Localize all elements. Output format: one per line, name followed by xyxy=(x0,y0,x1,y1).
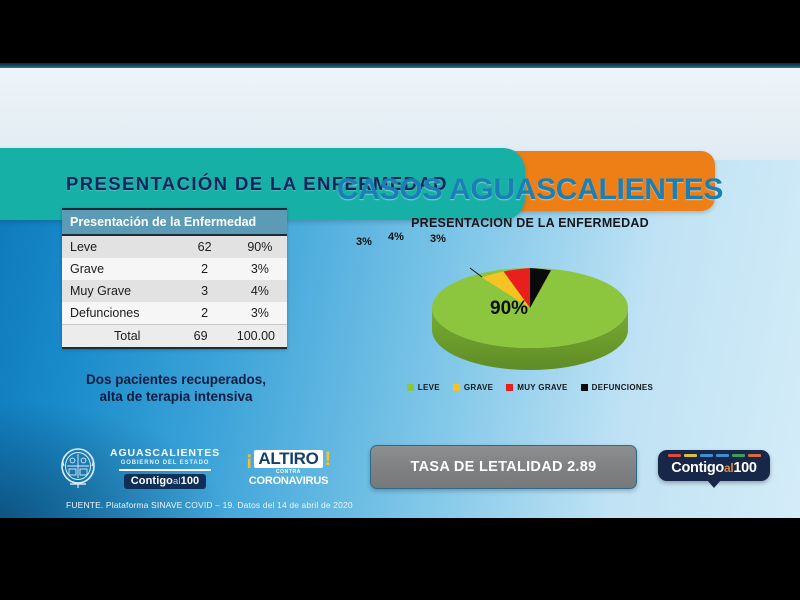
contigo-main: Contigo xyxy=(671,460,724,476)
presentation-slide: PRESENTACIÓN DE LA ENFERMEDAD Presentaci… xyxy=(0,63,800,518)
pie-chart-svg xyxy=(330,236,730,371)
gobierno-estado-logo: AGUASCALIENTES GOBIERNO DEL ESTADO Conti… xyxy=(110,448,220,489)
contigo-num: 100 xyxy=(733,460,756,476)
table-row: Leve 62 90% xyxy=(62,235,287,258)
row-label: Grave xyxy=(62,258,176,280)
pie-label-defunciones: 3% xyxy=(430,233,446,245)
contigo-wordmark: Contigoal100 xyxy=(664,460,764,476)
chart-title: CASOS AGUASCALIENTES xyxy=(330,173,730,207)
legend-swatch-icon xyxy=(581,384,588,391)
color-bar-blue-icon xyxy=(700,454,713,457)
legend-swatch-icon xyxy=(506,384,513,391)
pie-chart: 3% 4% 3% 90% xyxy=(330,236,730,371)
contigo-badge-tail xyxy=(707,480,721,488)
pie-label-leve: 90% xyxy=(490,298,528,320)
tasa-letalidad-box: TASA DE LETALIDAD 2.89 xyxy=(370,445,637,489)
altiro-wordmark: ¡ ALTIRO ! xyxy=(246,450,331,469)
recovered-note-line2: alta de terapia intensiva xyxy=(62,388,290,405)
legend-item-leve: LEVE xyxy=(407,383,440,392)
row-percent: 3% xyxy=(225,258,287,280)
contigo-badge-body: Contigoal100 xyxy=(658,450,770,481)
pie-label-grave: 3% xyxy=(356,236,372,248)
row-percent: 90% xyxy=(225,235,287,258)
legend-item-defunciones: DEFUNCIONES xyxy=(581,383,654,392)
legend-label: DEFUNCIONES xyxy=(592,383,654,392)
gob-logo-line2: GOBIERNO DEL ESTADO xyxy=(121,460,210,466)
legend-label: LEVE xyxy=(418,383,440,392)
gob-logo-line1: AGUASCALIENTES xyxy=(110,448,220,459)
header-background-strip xyxy=(0,68,800,160)
altiro-bang-right-icon: ! xyxy=(325,450,331,469)
pie-label-muy-grave: 4% xyxy=(388,231,404,243)
color-bar-green-icon xyxy=(732,454,745,457)
row-count: 62 xyxy=(176,235,224,258)
row-label: Leve xyxy=(62,235,176,258)
letterbox-top xyxy=(0,0,800,63)
table-body: Leve 62 90% Grave 2 3% Muy Grave 3 4% xyxy=(62,235,287,348)
table-row: Grave 2 3% xyxy=(62,258,287,280)
altiro-bang-left-icon: ¡ xyxy=(246,450,252,469)
altiro-word: ALTIRO xyxy=(254,450,322,468)
chart-panel: CASOS AGUASCALIENTES PRESENTACION DE LA … xyxy=(330,173,730,392)
color-bar-blue2-icon xyxy=(716,454,729,457)
row-count: 2 xyxy=(176,258,224,280)
source-note: FUENTE. Plataforma SINAVE COVID – 19. Da… xyxy=(66,500,353,510)
table-head: Presentación de la Enfermedad xyxy=(62,209,287,235)
contigo-color-bars xyxy=(664,454,764,457)
slide-top-rule xyxy=(0,63,800,68)
legend-item-muy-grave: MUY GRAVE xyxy=(506,383,567,392)
row-count: 2 xyxy=(176,302,224,325)
gob-badge-num: 100 xyxy=(181,475,200,487)
table-total-row: Total 69 100.00 xyxy=(62,325,287,349)
row-percent: 3% xyxy=(225,302,287,325)
legend-swatch-icon xyxy=(407,384,414,391)
altiro-coronavirus-logo: ¡ ALTIRO ! CONTRA CORONAVIRUS xyxy=(246,450,331,487)
contigo-al-100-badge: Contigoal100 xyxy=(658,450,770,488)
total-percent: 100.00 xyxy=(225,325,287,349)
letterbox-bottom xyxy=(0,518,800,600)
row-label: Muy Grave xyxy=(62,280,176,302)
contigo-al: al xyxy=(724,461,733,475)
aguascalientes-coat-of-arms-icon xyxy=(58,446,98,490)
gob-badge-al: al xyxy=(173,476,181,487)
recovered-note-line1: Dos pacientes recuperados, xyxy=(62,371,290,388)
legend-item-grave: GRAVE xyxy=(453,383,493,392)
row-percent: 4% xyxy=(225,280,287,302)
screenshot-frame: PRESENTACIÓN DE LA ENFERMEDAD Presentaci… xyxy=(0,0,800,600)
left-column: Presentación de la Enfermedad Leve 62 90… xyxy=(62,208,292,405)
table-header-row: Presentación de la Enfermedad xyxy=(62,209,287,235)
total-label: Total xyxy=(62,325,176,349)
color-bar-yellow-icon xyxy=(684,454,697,457)
legend-label: MUY GRAVE xyxy=(517,383,567,392)
gob-logo-divider xyxy=(119,469,211,471)
altiro-coronavirus-text: CORONAVIRUS xyxy=(249,476,329,487)
row-label: Defunciones xyxy=(62,302,176,325)
table-row: Muy Grave 3 4% xyxy=(62,280,287,302)
gob-badge-main: Contigo xyxy=(131,475,173,487)
tasa-letalidad-text: TASA DE LETALIDAD 2.89 xyxy=(411,459,597,475)
row-count: 3 xyxy=(176,280,224,302)
legend-label: GRAVE xyxy=(464,383,493,392)
total-count: 69 xyxy=(176,325,224,349)
footer-logos: AGUASCALIENTES GOBIERNO DEL ESTADO Conti… xyxy=(58,446,331,490)
chart-legend: LEVE GRAVE MUY GRAVE DEFUNCIONES xyxy=(330,383,730,392)
disease-presentation-table: Presentación de la Enfermedad Leve 62 90… xyxy=(62,208,287,349)
altiro-contra-text: CONTRA xyxy=(276,470,301,475)
gob-contigo-badge: Contigoal100 xyxy=(124,474,207,489)
color-bar-red-icon xyxy=(668,454,681,457)
color-bar-orange-icon xyxy=(748,454,761,457)
recovered-patients-note: Dos pacientes recuperados, alta de terap… xyxy=(62,371,290,405)
legend-swatch-icon xyxy=(453,384,460,391)
chart-subtitle: PRESENTACION DE LA ENFERMEDAD xyxy=(330,216,730,230)
table-header-cell: Presentación de la Enfermedad xyxy=(62,209,287,235)
table-row: Defunciones 2 3% xyxy=(62,302,287,325)
